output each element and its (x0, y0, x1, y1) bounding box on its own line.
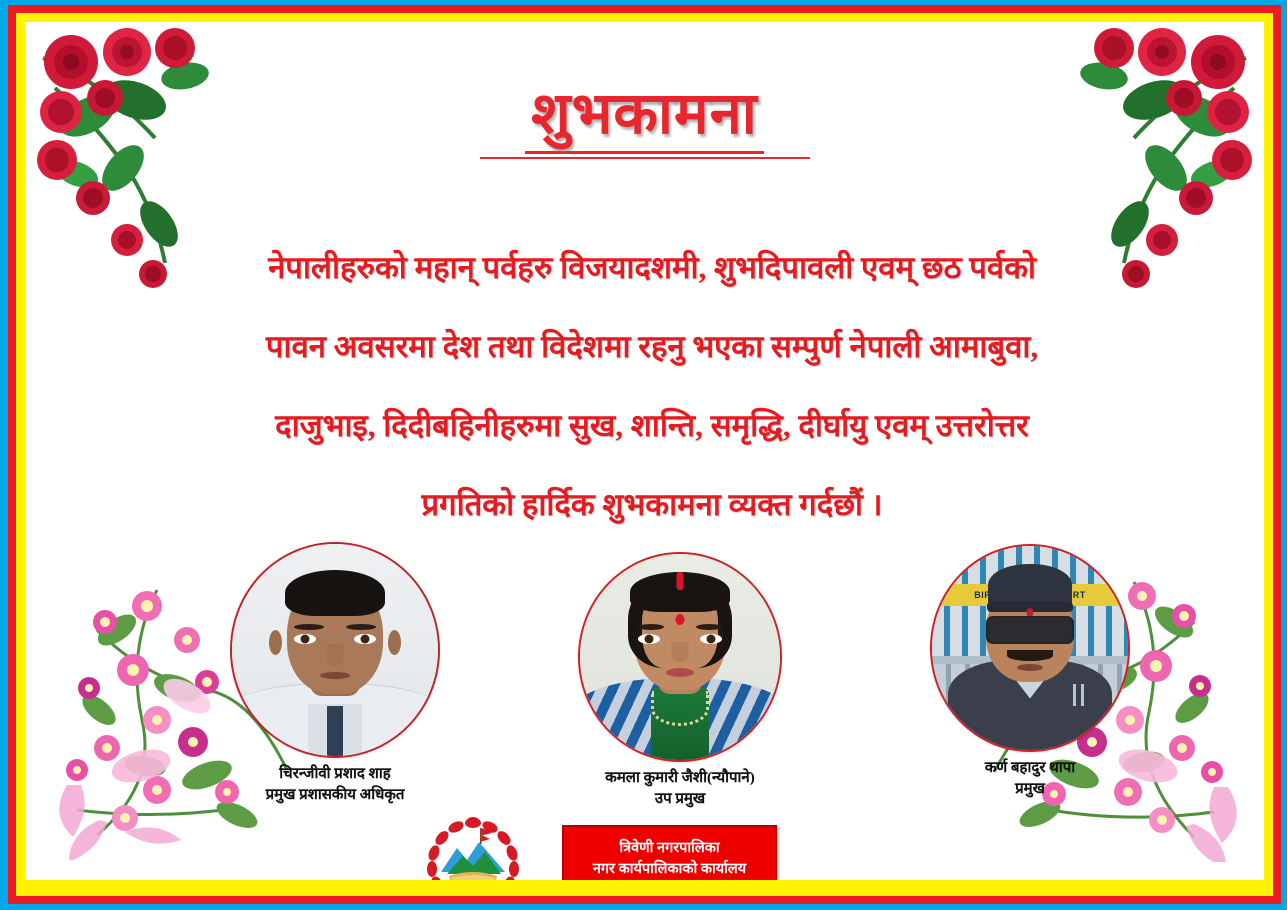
official-card-2: कमला कुमारी जैशी(न्यौपाने) उप प्रमुख (530, 552, 830, 810)
official-card-3: BIRATNAGAR AIRPORT (880, 544, 1180, 800)
poster-canvas: शुभकामना नेपालीहरुको महान् पर्वहरु विजया… (25, 22, 1264, 880)
official-role-1: प्रमुख प्रशासकीय अधिकृत (175, 785, 495, 806)
message-line-4: प्रगतिको हार्दिक शुभकामना व्यक्त गर्दछौं… (135, 465, 1169, 544)
office-line-3: तोली बाजुरा (639, 880, 701, 881)
office-line-1: त्रिवेणी नगरपालिका (619, 838, 719, 859)
page-title: शुभकामना (525, 84, 764, 154)
greeting-poster: शुभकामना नेपालीहरुको महान् पर्वहरु विजया… (0, 0, 1287, 910)
title-underline (480, 157, 810, 159)
officials-row: चिरन्जीवी प्रशाद शाह प्रमुख प्रशासकीय अध… (25, 534, 1264, 824)
avatar-deputy-mayor (578, 552, 782, 762)
office-line-2: नगर कार्यपालिकाको कार्यालय (593, 859, 746, 880)
message-line-2: पावन अवसरमा देश तथा विदेशमा रहनु भएका सम… (135, 307, 1169, 386)
border-bottom-sliver (16, 883, 1027, 896)
greeting-message: नेपालीहरुको महान् पर्वहरु विजयादशमी, शुभ… (135, 228, 1169, 544)
message-line-3: दाजुभाइ, दिदीबहिनीहरुमा सुख, शान्ति, समृ… (135, 386, 1169, 465)
avatar-mayor: BIRATNAGAR AIRPORT (930, 544, 1130, 752)
official-name-1: चिरन्जीवी प्रशाद शाह (175, 764, 495, 785)
official-caption-3: कर्ण बहादुर थापा प्रमुख (880, 758, 1180, 800)
poster-title-wrap: शुभकामना (25, 84, 1264, 159)
official-role-2: उप प्रमुख (530, 789, 830, 810)
message-line-1: नेपालीहरुको महान् पर्वहरु विजयादशमी, शुभ… (135, 228, 1169, 307)
sunglasses-icon (986, 616, 1074, 644)
official-caption-2: कमला कुमारी जैशी(न्यौपाने) उप प्रमुख (530, 768, 830, 810)
office-name-banner: त्रिवेणी नगरपालिका नगर कार्यपालिकाको कार… (562, 825, 777, 880)
official-role-3: प्रमुख (880, 779, 1180, 800)
official-card-1: चिरन्जीवी प्रशाद शाह प्रमुख प्रशासकीय अध… (175, 542, 495, 806)
avatar-chief-administrative-officer (230, 542, 440, 758)
official-name-3: कर्ण बहादुर थापा (880, 758, 1180, 779)
nepal-government-emblem-icon: जननी जन्मभूमिश्च (423, 814, 523, 880)
official-name-2: कमला कुमारी जैशी(न्यौपाने) (530, 768, 830, 789)
official-caption-1: चिरन्जीवी प्रशाद शाह प्रमुख प्रशासकीय अध… (175, 764, 495, 806)
